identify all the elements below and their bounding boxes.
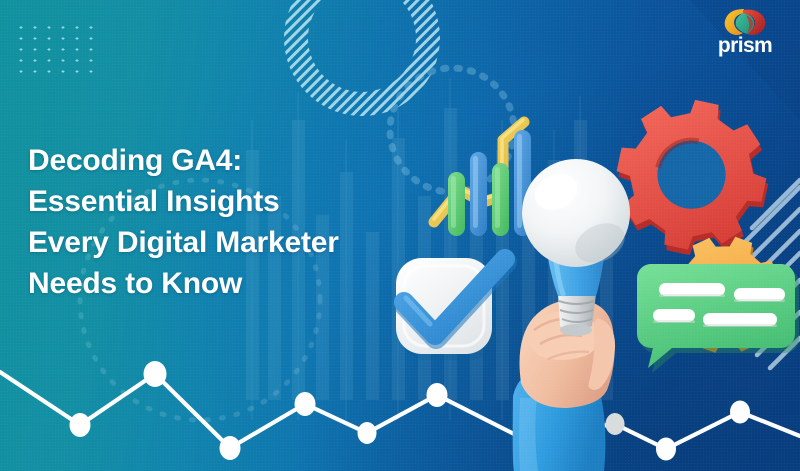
headline-line-2: Essential Insights: [28, 181, 448, 222]
headline-line-4: Needs to Know: [28, 263, 448, 304]
brand-logo[interactable]: prism: [708, 8, 782, 62]
dot-grid-icon: [14, 22, 98, 78]
banner-root: Decoding GA4: Essential Insights Every D…: [0, 0, 800, 471]
headline-line-1: Decoding GA4:: [28, 140, 448, 181]
headline: Decoding GA4: Essential Insights Every D…: [28, 140, 448, 304]
prism-logo-mark-icon: [722, 8, 768, 36]
headline-line-3: Every Digital Marketer: [28, 222, 448, 263]
brand-wordmark: prism: [708, 34, 782, 58]
